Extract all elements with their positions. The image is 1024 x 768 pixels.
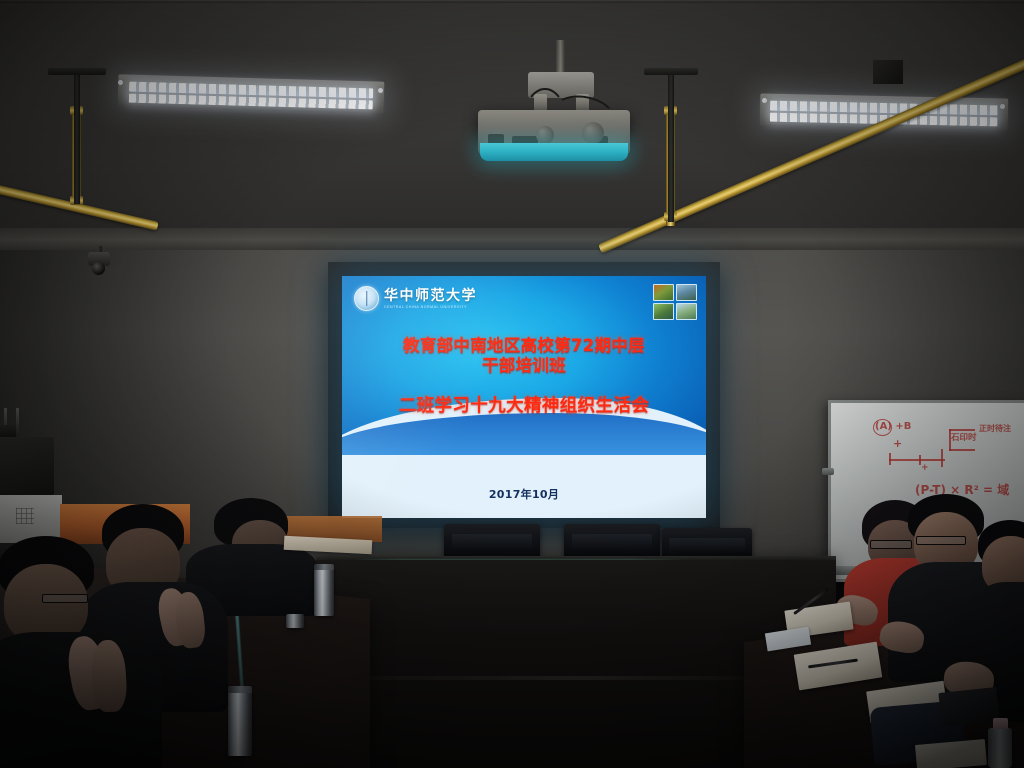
whiteboard-note-5: 正时待注 [979,423,1011,434]
camera-lens-icon [92,262,105,275]
slide-thumbnail-2 [676,284,697,301]
slide-thumbnail-4 [676,303,697,320]
whiteboard-note-2: + [893,437,902,450]
slide-thumbnail-1 [653,284,674,301]
projector-mount-pole [556,40,565,76]
slide-title-line-1: 教育部中南地区高校第72期中层 [342,336,706,356]
attendee-right-man-center-glasses [916,536,966,545]
pipe-hanger-right [668,72,674,222]
whiteboard-note-4: 石印时 [951,431,977,443]
university-name-en: CENTRAL CHINA NORMAL UNIVERSITY [384,305,477,309]
university-name-cn: 华中师范大学 [384,289,477,303]
university-emblem-icon [354,286,379,311]
water-bottle[interactable] [988,728,1012,768]
cabinet-speaker-grille [16,508,34,524]
notebook-4[interactable] [915,739,987,768]
slide-subtitle: 二班学习十九大精神组织生活会 [342,392,706,417]
slide-date: 2017年10月 [342,486,706,502]
slide-thumbnail-3 [653,303,674,320]
thermos-cup-2[interactable] [314,566,334,616]
pipe-wall-bracket [873,60,903,84]
wireless-receiver-box [0,437,54,495]
thermos-cup-1[interactable] [228,688,252,756]
attendee-left-front [0,536,168,768]
slide-title-line-2: 干部培训班 [342,356,706,376]
attendee-left-front-glasses [42,594,88,603]
whiteboard-note-3: + [921,463,929,473]
tablet-device[interactable] [938,687,999,727]
whiteboard-note-1: (A) +B [875,421,911,432]
slide-photo-grid [653,284,697,320]
thermos-cup-3[interactable] [286,614,304,628]
whiteboard-bracket [822,468,834,475]
water-bottle-cap [993,718,1008,729]
slide-text-block: 教育部中南地区高校第72期中层 干部培训班 二班学习十九大精神组织生活会 [342,336,706,417]
pipe-hanger-left [74,72,80,204]
conference-room-scene: 华中师范大学 CENTRAL CHINA NORMAL UNIVERSITY 教… [0,0,1024,768]
projection-screen[interactable]: 华中师范大学 CENTRAL CHINA NORMAL UNIVERSITY 教… [342,276,706,518]
receiver-antenna-2 [16,408,19,436]
university-logo: 华中师范大学 CENTRAL CHINA NORMAL UNIVERSITY [354,286,477,311]
